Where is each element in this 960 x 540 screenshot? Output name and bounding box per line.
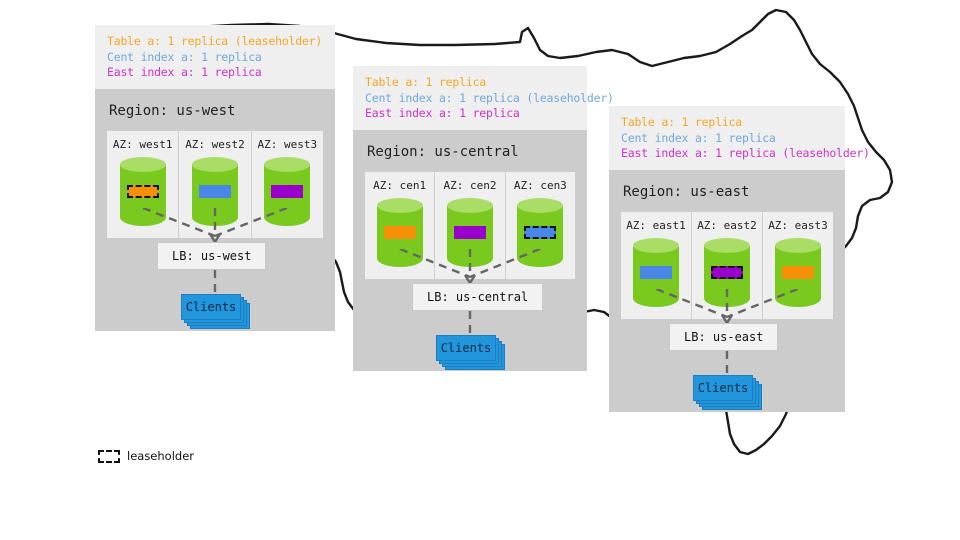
az-label: AZ: west2 — [179, 138, 250, 151]
database-cylinder-icon[interactable] — [775, 238, 821, 315]
replica-chip — [782, 266, 814, 279]
az-label: AZ: cen3 — [506, 179, 575, 192]
legend-label: leaseholder — [127, 449, 194, 463]
az-cell-east2[interactable]: AZ: east2 — [691, 212, 762, 319]
replica-line-east_index: East index a: 1 replica — [107, 65, 323, 81]
replica-line-table_a: Table a: 1 replica — [365, 75, 575, 91]
replica-chip — [199, 185, 231, 198]
az-label: AZ: west3 — [252, 138, 323, 151]
cylinder-top — [704, 238, 750, 253]
replica-summary-us-central: Table a: 1 replicaCent index a: 1 replic… — [353, 66, 587, 130]
az-cell-cen1[interactable]: AZ: cen1 — [365, 172, 434, 279]
az-cell-west2[interactable]: AZ: west2 — [178, 131, 250, 238]
az-row-us-east: AZ: east1AZ: east2AZ: east3 — [621, 212, 833, 319]
lb-to-clients-connector — [621, 351, 857, 377]
replica-line-east_index: East index a: 1 replica (leaseholder) — [621, 146, 833, 162]
clients-stack-us-east[interactable]: Clients — [693, 375, 761, 409]
az-label: AZ: cen1 — [365, 179, 434, 192]
database-cylinder-icon[interactable] — [120, 157, 166, 234]
clients-stack-us-west[interactable]: Clients — [181, 294, 249, 328]
replica-chip-leaseholder — [711, 266, 743, 279]
az-label: AZ: cen2 — [435, 179, 504, 192]
replica-line-cent_index: Cent index a: 1 replica — [107, 50, 323, 66]
load-balancer-us-west[interactable]: LB: us-west — [157, 242, 266, 270]
region-body-us-east: Region: us-eastAZ: east1AZ: east2AZ: eas… — [609, 170, 845, 413]
az-label: AZ: east2 — [692, 219, 762, 232]
region-title-us-east: Region: us-east — [609, 170, 845, 212]
region-title-us-central: Region: us-central — [353, 130, 587, 172]
cylinder-top — [120, 157, 166, 172]
az-label: AZ: east3 — [763, 219, 833, 232]
region-body-us-west: Region: us-westAZ: west1AZ: west2AZ: wes… — [95, 89, 335, 332]
replica-line-cent_index: Cent index a: 1 replica — [621, 131, 833, 147]
clients-label[interactable]: Clients — [436, 335, 496, 361]
database-cylinder-icon[interactable] — [377, 198, 423, 275]
database-cylinder-icon[interactable] — [264, 157, 310, 234]
az-row-us-central: AZ: cen1AZ: cen2AZ: cen3 — [365, 172, 575, 279]
cylinder-top — [517, 198, 563, 213]
replica-line-east_index: East index a: 1 replica — [365, 106, 575, 122]
leaseholder-swatch-icon — [98, 450, 120, 463]
load-balancer-us-central[interactable]: LB: us-central — [412, 283, 543, 311]
replica-line-table_a: Table a: 1 replica (leaseholder) — [107, 34, 323, 50]
az-cell-east1[interactable]: AZ: east1 — [621, 212, 691, 319]
replica-chip — [454, 226, 486, 239]
replica-summary-us-west: Table a: 1 replica (leaseholder)Cent ind… — [95, 25, 335, 89]
clients-label[interactable]: Clients — [693, 375, 753, 401]
az-cell-west1[interactable]: AZ: west1 — [107, 131, 178, 238]
cylinder-top — [264, 157, 310, 172]
az-cell-west3[interactable]: AZ: west3 — [251, 131, 323, 238]
replica-line-table_a: Table a: 1 replica — [621, 115, 833, 131]
replica-chip-leaseholder — [127, 185, 159, 198]
database-cylinder-icon[interactable] — [704, 238, 750, 315]
replica-chip — [640, 266, 672, 279]
region-panel-us-east: Table a: 1 replicaCent index a: 1 replic… — [609, 106, 845, 412]
cylinder-top — [192, 157, 238, 172]
clients-stack-us-central[interactable]: Clients — [436, 335, 504, 369]
az-row-us-west: AZ: west1AZ: west2AZ: west3 — [107, 131, 323, 238]
database-cylinder-icon[interactable] — [633, 238, 679, 315]
cylinder-top — [775, 238, 821, 253]
az-cell-cen2[interactable]: AZ: cen2 — [434, 172, 504, 279]
az-cell-east3[interactable]: AZ: east3 — [762, 212, 833, 319]
database-cylinder-icon[interactable] — [517, 198, 563, 275]
load-balancer-us-east[interactable]: LB: us-east — [669, 323, 778, 351]
clients-label[interactable]: Clients — [181, 294, 241, 320]
legend: leaseholder — [98, 449, 194, 463]
lb-to-clients-connector — [365, 311, 599, 337]
replica-chip-leaseholder — [524, 226, 556, 239]
database-cylinder-icon[interactable] — [447, 198, 493, 275]
database-cylinder-icon[interactable] — [192, 157, 238, 234]
replica-chip — [384, 226, 416, 239]
cylinder-top — [633, 238, 679, 253]
lb-to-clients-connector — [107, 270, 347, 296]
region-panel-us-west: Table a: 1 replica (leaseholder)Cent ind… — [95, 25, 335, 331]
region-title-us-west: Region: us-west — [95, 89, 335, 131]
replica-chip — [271, 185, 303, 198]
az-cell-cen3[interactable]: AZ: cen3 — [505, 172, 575, 279]
cylinder-top — [377, 198, 423, 213]
region-panel-us-central: Table a: 1 replicaCent index a: 1 replic… — [353, 66, 587, 371]
az-label: AZ: east1 — [621, 219, 691, 232]
replica-line-cent_index: Cent index a: 1 replica (leaseholder) — [365, 91, 575, 107]
replica-summary-us-east: Table a: 1 replicaCent index a: 1 replic… — [609, 106, 845, 170]
cylinder-top — [447, 198, 493, 213]
region-body-us-central: Region: us-centralAZ: cen1AZ: cen2AZ: ce… — [353, 130, 587, 372]
az-label: AZ: west1 — [107, 138, 178, 151]
